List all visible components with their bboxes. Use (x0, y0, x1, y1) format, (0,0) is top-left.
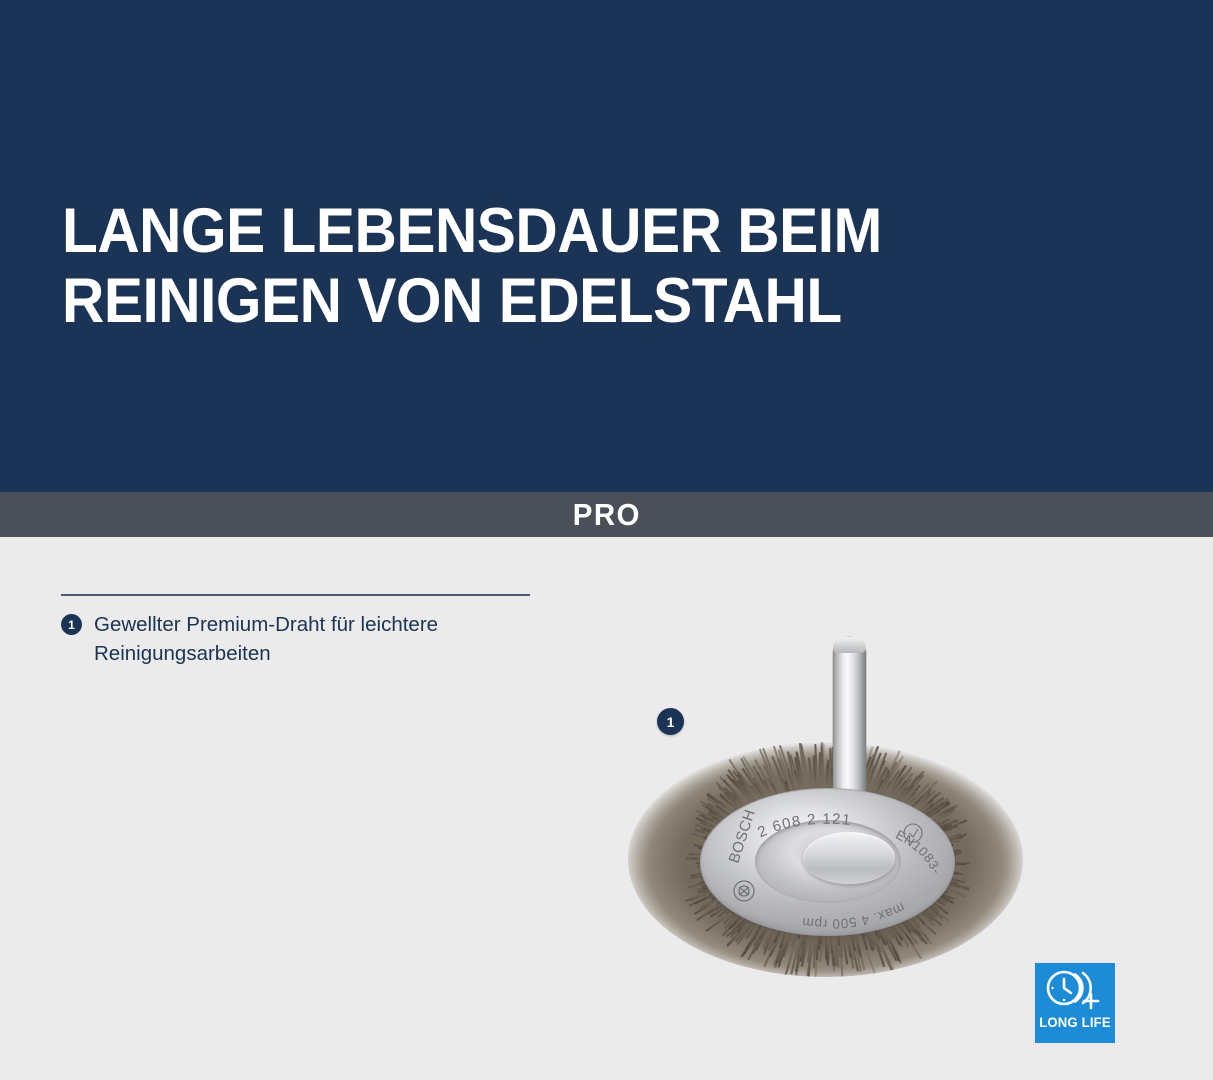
feature-number-badge: 1 (61, 614, 82, 635)
feature-list: 1 Gewellter Premium-Draht für leichtere … (61, 594, 531, 668)
content-section: 1 Gewellter Premium-Draht für leichtere … (0, 537, 1213, 1080)
product-banner: LANGE LEBENSDAUER BEIM REINIGEN VON EDEL… (0, 0, 1213, 1080)
product-image: 2 608 2 121 EN1083-2 max. 4 500 rpm BOSC… (595, 632, 1065, 1062)
hero-text-block: LANGE LEBENSDAUER BEIM REINIGEN VON EDEL… (62, 196, 1173, 336)
callout-marker-1: 1 (657, 708, 684, 735)
pro-label: PRO (572, 499, 640, 530)
page-title: LANGE LEBENSDAUER BEIM REINIGEN VON EDEL… (62, 196, 1095, 336)
clock-plus-icon (1042, 969, 1108, 1011)
headline-line-2: REINIGEN VON EDELSTAHL (62, 266, 1095, 336)
shank-tip (833, 637, 866, 653)
status-badge: LONG LIFE (1035, 963, 1115, 1043)
feature-description: Gewellter Premium-Draht für leichtere Re… (94, 610, 514, 668)
list-item: 1 Gewellter Premium-Draht für leichtere … (61, 610, 531, 668)
hero-section: LANGE LEBENSDAUER BEIM REINIGEN VON EDEL… (0, 0, 1213, 492)
pro-line-bar: PRO (0, 492, 1213, 537)
badge-label: LONG LIFE (1036, 1015, 1114, 1030)
product-hub (803, 832, 895, 884)
divider (61, 594, 530, 596)
headline-line-1: LANGE LEBENSDAUER BEIM (62, 196, 882, 266)
